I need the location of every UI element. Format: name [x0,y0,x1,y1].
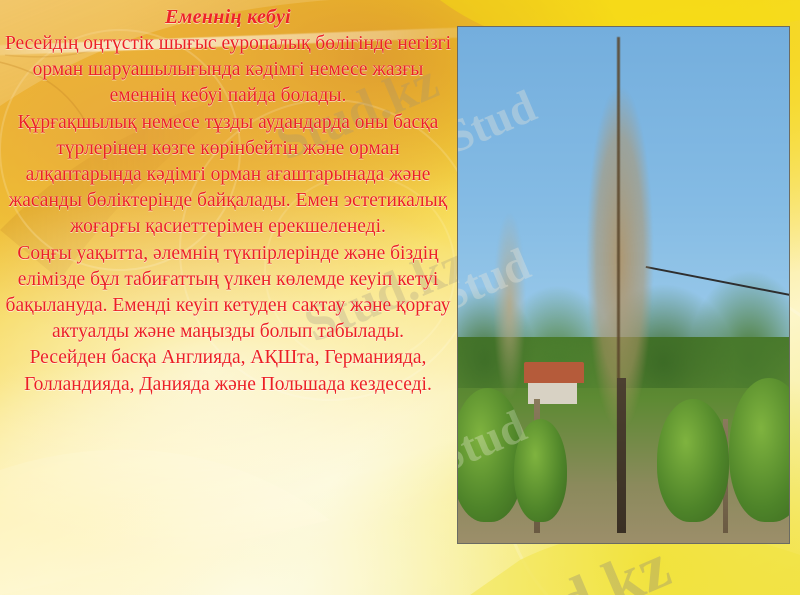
page-title: Еменнің кебуі [4,4,452,31]
slide-photo: Stud Stud Stud [457,26,790,544]
slide-text-column: Еменнің кебуі Ресейдің оңтүстік шығыс еу… [4,4,452,398]
photo-shrub [657,399,730,523]
photo-content: Stud Stud Stud [458,27,789,543]
photo-house-roof [524,362,584,383]
photo-tree-trunk [617,378,626,533]
photo-shrub [514,419,567,522]
paragraph-2: Құрғақшылық немесе тұзды аудандарда оны … [4,110,452,241]
paragraph-4: Ресейден басқа Англияда, АҚШта, Германия… [4,345,452,397]
presentation-slide: Stud.kz Stud.kz Stud.kz Еменнің кебуі Ре… [0,0,800,595]
paragraph-1: Ресейдің оңтүстік шығыс еуропалық бөлігі… [4,31,452,110]
paragraph-3: Соңғы уақытта, әлемнің түкпірлерінде жән… [4,241,452,346]
